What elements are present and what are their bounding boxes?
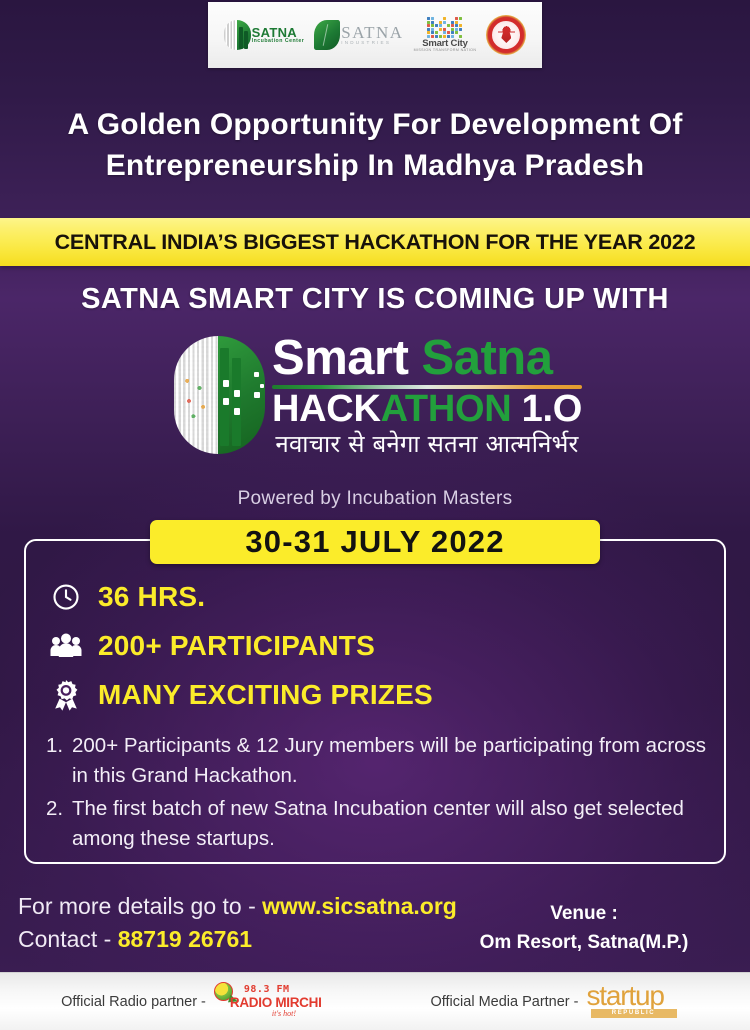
stat-label: 36 HRS.	[98, 581, 205, 613]
smart-satna-mark-icon	[168, 336, 268, 454]
smart-city-logo: Smart City MISSION TRANSFORM NATION	[414, 17, 477, 52]
poster-root: SATNA Incubation Center SATNA INDUSTRIES	[0, 0, 750, 1030]
leaf-icon	[314, 20, 340, 50]
event-date-text: 30-31 JULY 2022	[245, 524, 504, 560]
stat-row: MANY EXCITING PRIZES	[50, 670, 700, 719]
stat-label: 200+ PARTICIPANTS	[98, 630, 375, 662]
satna-leaf-logo: SATNA INDUSTRIES	[314, 20, 403, 50]
note-text: 200+ Participants & 12 Jury members will…	[72, 731, 718, 790]
radio-partner-block: Official Radio partner - 98.3 FM RADIO M…	[0, 982, 375, 1022]
logo-tagline-hindi: नवाचार से बनेगा सतना आत्मनिर्भर	[272, 430, 582, 459]
media-partner-label: Official Media Partner -	[430, 994, 578, 1010]
startup-republic-logo: startup REPUBLIC	[587, 982, 695, 1022]
partner-logo-strip: SATNA Incubation Center SATNA INDUSTRIES	[208, 2, 542, 68]
phone-prefix: Contact -	[18, 926, 118, 952]
satna-logo-title: SATNA	[341, 24, 403, 41]
logo-hack-green: ATHON	[381, 388, 512, 430]
emblem-icon	[486, 15, 526, 55]
radio-partner-label: Official Radio partner -	[61, 994, 206, 1010]
powered-by-text: Powered by Incubation Masters	[0, 488, 750, 510]
logo-word-satna: Satna	[422, 331, 553, 385]
stats-list: 36 HRS. 200+ PARTICIPANTS	[50, 572, 700, 719]
phone-number[interactable]: 88719 26761	[118, 926, 252, 952]
award-ribbon-icon	[50, 679, 82, 711]
footer-bar: Official Radio partner - 98.3 FM RADIO M…	[0, 972, 750, 1030]
government-emblem-logo	[486, 15, 526, 55]
people-group-icon	[50, 630, 82, 662]
stat-row: 200+ PARTICIPANTS	[50, 621, 700, 670]
stat-row: 36 HRS.	[50, 572, 700, 621]
stat-label: MANY EXCITING PRIZES	[98, 679, 433, 711]
radio-tagline: it's hot!	[272, 1009, 296, 1018]
smart-city-grid-icon	[427, 17, 463, 38]
clock-icon	[50, 581, 82, 613]
startup-sub-bar: REPUBLIC	[591, 1009, 677, 1018]
startup-sub-text: REPUBLIC	[612, 1010, 655, 1016]
venue-value: Om Resort, Satna(M.P.)	[434, 929, 734, 958]
radio-mirchi-logo: 98.3 FM RADIO MIRCHI it's hot!	[214, 982, 314, 1022]
satna-incubation-center-logo: SATNA Incubation Center	[224, 20, 305, 50]
website-prefix: For more details go to -	[18, 893, 262, 919]
logo-hack-white: HACK	[272, 388, 381, 430]
sic-logo-subtitle: Incubation Center	[252, 39, 305, 44]
note-item: 1. 200+ Participants & 12 Jury members w…	[46, 731, 718, 790]
event-date-pill: 30-31 JULY 2022	[150, 520, 600, 564]
website-link[interactable]: www.sicsatna.org	[262, 893, 457, 919]
startup-wordmark: startup	[587, 982, 664, 1010]
hackathon-logo: Smart Satna HACKATHON 1.O नवाचार से बनेग…	[0, 332, 750, 459]
banner-text: CENTRAL INDIA’S BIGGEST HACKATHON FOR TH…	[55, 230, 696, 255]
venue-block: Venue : Om Resort, Satna(M.P.)	[434, 900, 734, 957]
logo-hackathon-line: HACKATHON 1.O	[272, 390, 582, 428]
venue-label: Venue :	[434, 900, 734, 929]
headline-line-1: A Golden Opportunity For Development Of	[67, 108, 682, 141]
note-item: 2. The first batch of new Satna Incubati…	[46, 794, 718, 853]
note-number: 1.	[46, 731, 72, 790]
logo-hack-version: 1.O	[511, 388, 582, 430]
notes-list: 1. 200+ Participants & 12 Jury members w…	[46, 731, 718, 858]
smart-city-subtitle: MISSION TRANSFORM NATION	[414, 49, 477, 53]
logo-wordmark: Smart Satna	[272, 334, 582, 382]
note-number: 2.	[46, 794, 72, 853]
media-partner-block: Official Media Partner - startup REPUBLI…	[375, 982, 750, 1022]
logo-word-smart: Smart	[272, 331, 408, 385]
main-headline: A Golden Opportunity For Development Of …	[0, 104, 750, 187]
sic-mark-icon	[224, 20, 251, 50]
coming-up-heading: SATNA SMART CITY IS COMING UP WITH	[0, 283, 750, 316]
radio-name: RADIO MIRCHI	[230, 995, 322, 1010]
radio-frequency: 98.3 FM	[244, 984, 290, 995]
headline-line-2: Entrepreneurship In Madhya Pradesh	[0, 145, 750, 186]
note-text: The first batch of new Satna Incubation …	[72, 794, 718, 853]
hackathon-banner: CENTRAL INDIA’S BIGGEST HACKATHON FOR TH…	[0, 218, 750, 266]
sic-logo-title: SATNA	[252, 26, 305, 39]
